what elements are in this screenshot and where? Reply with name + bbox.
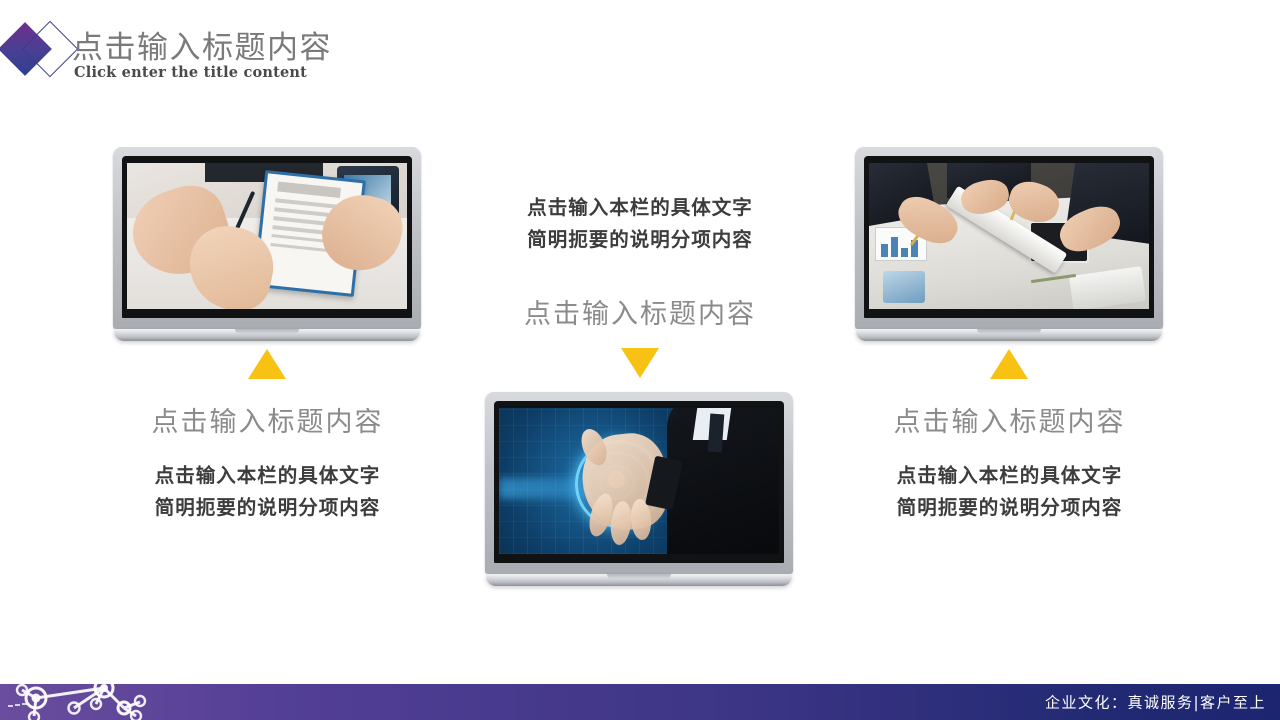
laptop-right-notch: [977, 329, 1041, 334]
laptop-right-screen: [869, 163, 1149, 309]
laptop-left-base: [114, 329, 420, 341]
page-title: 点击输入标题内容: [72, 22, 332, 67]
laptop-right-lid: [855, 147, 1163, 329]
column-left-body: 点击输入本栏的具体文字 简明扼要的说明分项内容: [0, 460, 535, 523]
slide-header: 点击输入标题内容 Click enter the title content: [0, 0, 1280, 110]
laptop-left-notch: [235, 329, 299, 334]
laptop-center-screen: [499, 408, 779, 554]
laptop-left-screen: [127, 163, 407, 309]
column-right-title: 点击输入标题内容: [742, 400, 1277, 439]
column-left-title: 点击输入标题内容: [0, 400, 535, 439]
column-center-body-line1: 点击输入本栏的具体文字: [440, 192, 840, 224]
column-center-body-line2: 简明扼要的说明分项内容: [440, 224, 840, 256]
touchscreen-technology-photo: [499, 408, 779, 554]
footer-slogan: 企业文化：真诚服务|客户至上: [1045, 692, 1266, 713]
footer-bar: 企业文化：真诚服务|客户至上: [0, 684, 1280, 720]
laptop-center-base: [486, 574, 792, 586]
column-right-body: 点击输入本栏的具体文字 简明扼要的说明分项内容: [742, 460, 1277, 523]
laptop-left: [113, 147, 421, 341]
laptop-left-lid: [113, 147, 421, 329]
page-subtitle: Click enter the title content: [74, 64, 307, 81]
triangle-down-icon-center: [621, 348, 659, 378]
triangle-up-icon-left: [248, 349, 286, 379]
laptop-center-bezel: [494, 401, 784, 563]
column-right-body-line1: 点击输入本栏的具体文字: [742, 460, 1277, 492]
network-nodes-icon: [0, 684, 210, 720]
laptop-right: [855, 147, 1163, 341]
column-center-body: 点击输入本栏的具体文字 简明扼要的说明分项内容: [440, 192, 840, 255]
column-center-title: 点击输入标题内容: [440, 292, 840, 331]
triangle-up-icon-right: [990, 349, 1028, 379]
laptop-right-bezel: [864, 156, 1154, 318]
column-left-body-line2: 简明扼要的说明分项内容: [0, 492, 535, 524]
laptop-right-base: [856, 329, 1162, 341]
laptop-center-notch: [607, 574, 671, 579]
column-right-body-line2: 简明扼要的说明分项内容: [742, 492, 1277, 524]
laptop-left-bezel: [122, 156, 412, 318]
contract-signing-photo: [127, 163, 407, 309]
column-left-body-line1: 点击输入本栏的具体文字: [0, 460, 535, 492]
business-meeting-blueprint-photo: [869, 163, 1149, 309]
